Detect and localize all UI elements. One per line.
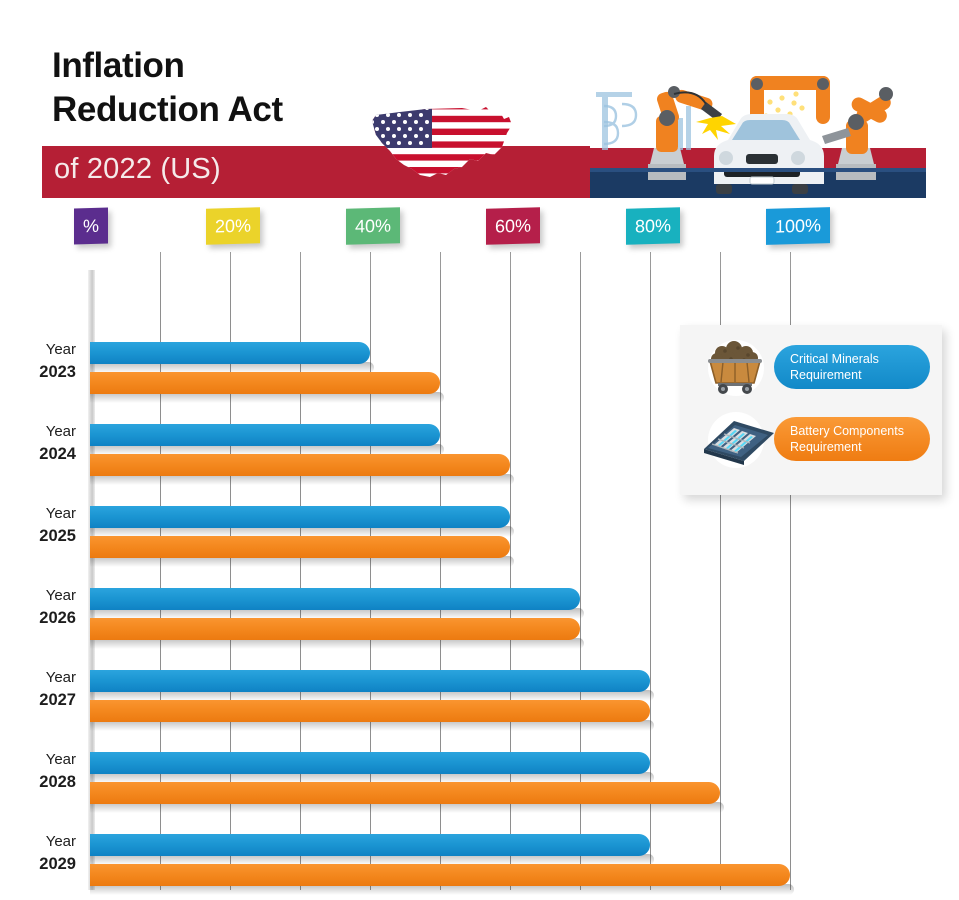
row-label-2026: Year2026 — [0, 586, 76, 629]
row-label-year: 2027 — [0, 689, 76, 712]
legend-label-line2: Requirement — [790, 367, 930, 383]
row-label-year: 2029 — [0, 853, 76, 876]
axis-tick — [300, 252, 301, 270]
x-axis-tick-label-20: 20% — [206, 207, 260, 245]
legend-pill: Battery ComponentsRequirement — [774, 417, 930, 461]
row-label-year: 2024 — [0, 443, 76, 466]
row-label-prefix: Year — [0, 750, 76, 771]
bar-critical-minerals-2023[interactable] — [90, 342, 370, 364]
legend-label-line1: Critical Minerals — [790, 351, 930, 367]
row-label-prefix: Year — [0, 586, 76, 607]
row-label-2024: Year2024 — [0, 422, 76, 465]
chart-row: Year2027 — [90, 670, 860, 752]
row-label-prefix: Year — [0, 422, 76, 443]
axis-tick — [650, 252, 651, 270]
axis-tick — [230, 252, 231, 270]
axis-tick — [720, 252, 721, 270]
bar-battery-components-2023[interactable] — [90, 372, 440, 394]
axis-tick — [370, 252, 371, 270]
x-axis-tick-label-0: % — [74, 208, 108, 245]
row-label-2029: Year2029 — [0, 832, 76, 875]
row-label-year: 2023 — [0, 361, 76, 384]
us-flag-map-icon — [366, 103, 518, 187]
row-label-prefix: Year — [0, 668, 76, 689]
axis-tick — [510, 252, 511, 270]
header: of 2022 (US) Inflation Reduction Act — [0, 0, 959, 210]
chart-row: Year2029 — [90, 834, 860, 900]
legend-item-battery-components[interactable]: Battery ComponentsRequirement — [694, 411, 930, 467]
chart-area: %20%40%60%80%100%Year2023Year2024Year202… — [0, 210, 959, 900]
axis-tick — [580, 252, 581, 270]
bar-critical-minerals-2027[interactable] — [90, 670, 650, 692]
row-label-year: 2026 — [0, 607, 76, 630]
bar-battery-components-2027[interactable] — [90, 700, 650, 722]
bar-critical-minerals-2026[interactable] — [90, 588, 580, 610]
row-label-2023: Year2023 — [0, 340, 76, 383]
axis-tick — [440, 252, 441, 270]
bar-critical-minerals-2028[interactable] — [90, 752, 650, 774]
legend-label-line1: Battery Components — [790, 423, 930, 439]
chart-row: Year2026 — [90, 588, 860, 670]
bar-battery-components-2026[interactable] — [90, 618, 580, 640]
chart-row: Year2025 — [90, 506, 860, 588]
header-subtitle: of 2022 (US) — [54, 153, 221, 186]
bar-critical-minerals-2024[interactable] — [90, 424, 440, 446]
row-label-2027: Year2027 — [0, 668, 76, 711]
bar-critical-minerals-2029[interactable] — [90, 834, 650, 856]
infographic-root: of 2022 (US) Inflation Reduction Act — [0, 0, 959, 900]
legend-item-critical-minerals[interactable]: Critical MineralsRequirement — [694, 339, 930, 395]
axis-tick — [790, 252, 791, 270]
row-label-prefix: Year — [0, 340, 76, 361]
axis-tick — [160, 252, 161, 270]
x-axis-tick-label-100: 100% — [766, 207, 830, 245]
battery-module-icon — [694, 411, 780, 469]
bar-battery-components-2025[interactable] — [90, 536, 510, 558]
x-axis-tick-label-60: 60% — [486, 207, 540, 245]
x-axis-tick-label-80: 80% — [626, 207, 680, 245]
legend-pill: Critical MineralsRequirement — [774, 345, 930, 389]
row-label-prefix: Year — [0, 832, 76, 853]
chart-legend: Critical MineralsRequirementBattery Comp… — [680, 325, 942, 495]
legend-label-line2: Requirement — [790, 439, 930, 455]
row-label-2025: Year2025 — [0, 504, 76, 547]
row-label-prefix: Year — [0, 504, 76, 525]
row-label-2028: Year2028 — [0, 750, 76, 793]
bar-battery-components-2028[interactable] — [90, 782, 720, 804]
mining-cart-ore-icon — [694, 339, 780, 397]
robotic-car-assembly-icon — [590, 72, 926, 198]
chart-row: Year2028 — [90, 752, 860, 834]
row-label-year: 2025 — [0, 525, 76, 548]
bar-critical-minerals-2025[interactable] — [90, 506, 510, 528]
row-label-year: 2028 — [0, 771, 76, 794]
x-axis-tick-label-40: 40% — [346, 207, 400, 245]
bar-battery-components-2029[interactable] — [90, 864, 790, 886]
bar-battery-components-2024[interactable] — [90, 454, 510, 476]
page-title: Inflation Reduction Act — [52, 44, 283, 132]
